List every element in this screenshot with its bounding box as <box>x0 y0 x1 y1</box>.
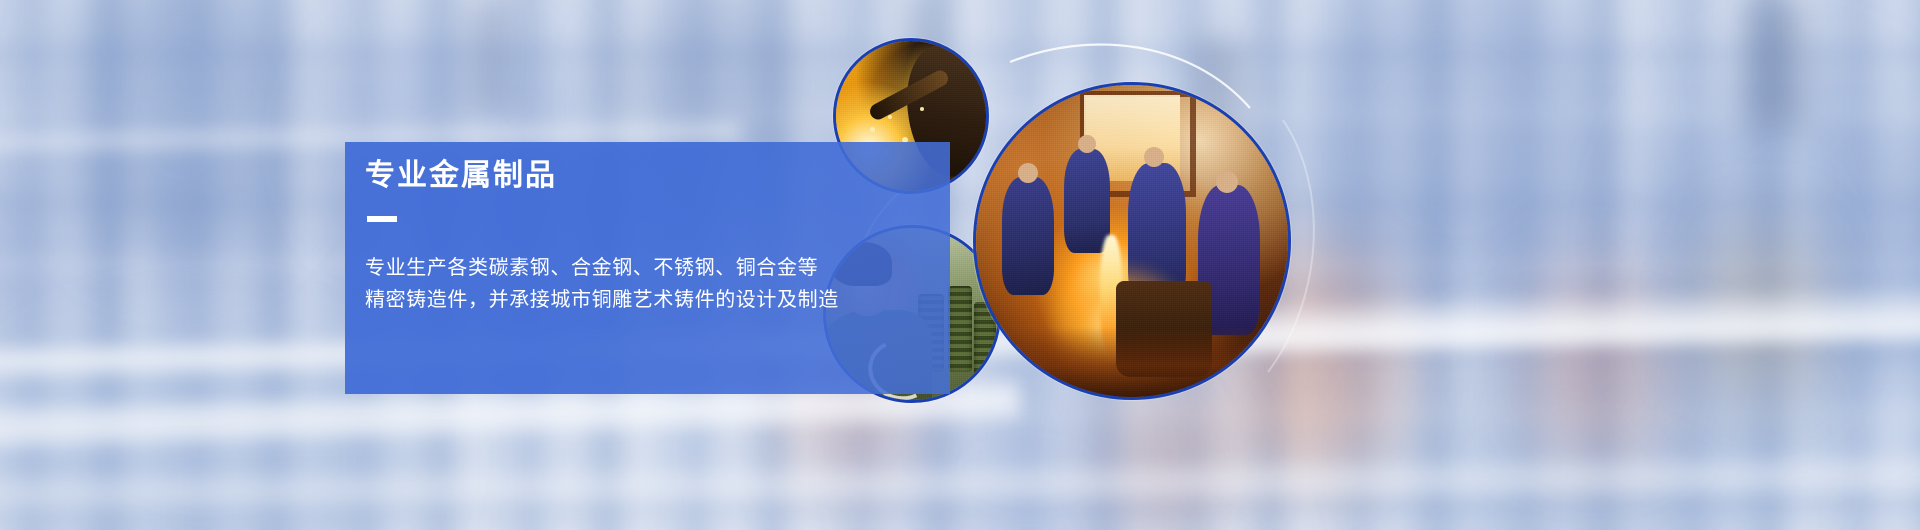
spark <box>870 127 875 132</box>
foundry-photo <box>976 85 1288 397</box>
spark <box>888 115 892 119</box>
description-text: 专业生产各类碳素钢、合金钢、不锈钢、铜合金等 精密铸造件，并承接城市铜雕艺术铸件… <box>365 252 1065 316</box>
title-divider <box>367 216 397 222</box>
description-line: 专业生产各类碳素钢、合金钢、不锈钢、铜合金等 <box>365 252 1065 284</box>
photo-circle-foundry <box>973 82 1291 400</box>
text-panel-inner: 专业金属制品 <box>365 158 557 222</box>
worker-head <box>1018 163 1038 183</box>
worker-head <box>1216 171 1238 193</box>
worker-head <box>1078 135 1096 153</box>
page-title: 专业金属制品 <box>365 158 557 194</box>
description-line: 精密铸造件，并承接城市铜雕艺术铸件的设计及制造 <box>365 284 1065 316</box>
spark <box>920 107 924 111</box>
worker-head <box>1144 147 1164 167</box>
foundry-worker <box>1064 149 1110 253</box>
hero-banner: 专业金属制品 专业生产各类碳素钢、合金钢、不锈钢、铜合金等 精密铸造件，并承接城… <box>0 0 1920 530</box>
foundry-floor <box>976 327 1288 397</box>
